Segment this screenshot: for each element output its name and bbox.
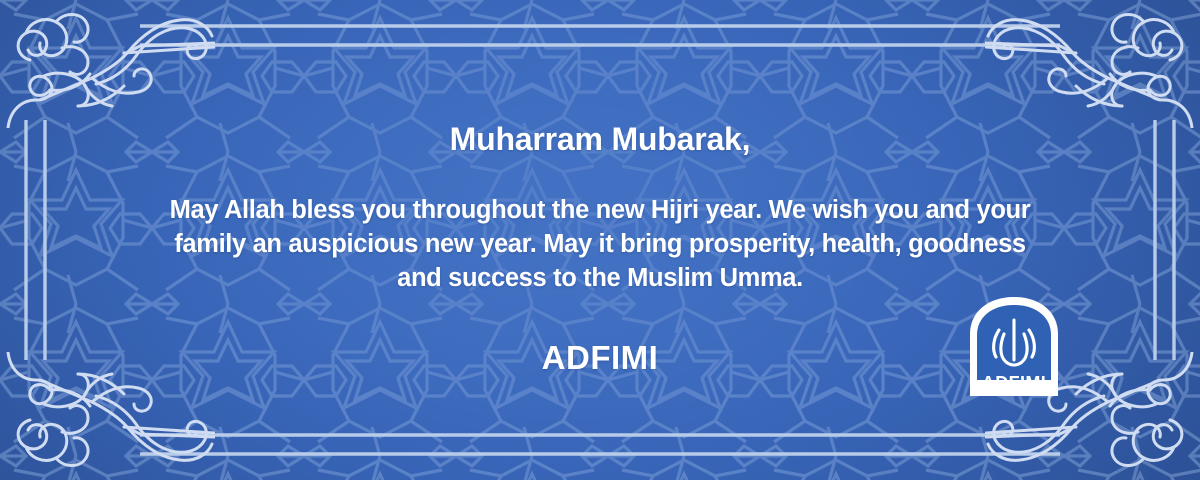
- greeting-heading: Muharram Mubarak,: [450, 120, 751, 158]
- adfimi-logo: ADFIMI: [966, 294, 1062, 396]
- logo-wordmark: ADFIMI: [982, 373, 1046, 393]
- signature-text: ADFIMI: [542, 339, 659, 377]
- message-line: May Allah bless you throughout the new H…: [170, 194, 1031, 228]
- greeting-card: Muharram Mubarak, May Allah bless you th…: [0, 0, 1200, 480]
- message-line: family an auspicious new year. May it br…: [170, 228, 1031, 262]
- message-line: and success to the Muslim Umma.: [170, 262, 1031, 296]
- message-body: May Allah bless you throughout the new H…: [170, 194, 1031, 295]
